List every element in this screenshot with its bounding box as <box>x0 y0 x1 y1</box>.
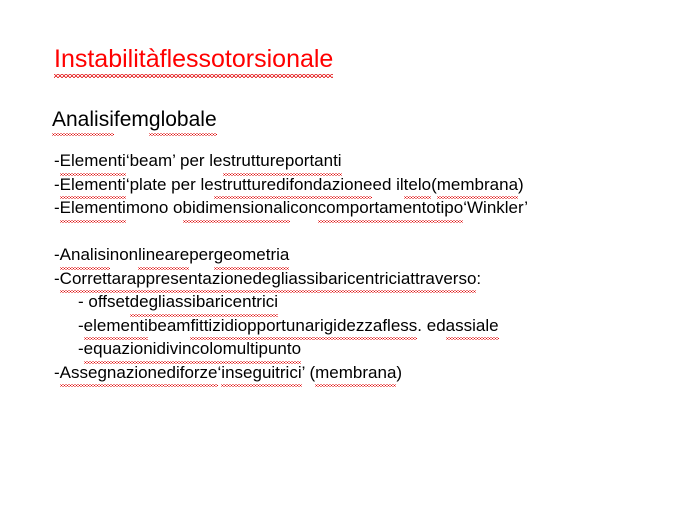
bullet-group-secondary: - Analisi non lineare per geometria- Cor… <box>54 243 499 384</box>
spellcheck-word: flessotorsionale <box>160 44 334 74</box>
presentation-slide: Instabilità flessotorsionale Analisi fem… <box>0 0 695 515</box>
spellcheck-word: Assegnazione <box>60 361 167 385</box>
spellcheck-word: telo <box>404 173 431 197</box>
spellcheck-word: di <box>156 337 169 361</box>
spellcheck-word: di <box>276 173 289 197</box>
text-run: fem <box>114 107 149 133</box>
spellcheck-word: equazioni <box>84 337 157 361</box>
spellcheck-word: di <box>224 314 237 338</box>
bullet-group-primary: - Elementi ‘beam’ per le strutture porta… <box>54 149 528 220</box>
spellcheck-word: geometria <box>214 243 290 267</box>
bullet-line: - Elementi ‘beam’ per le strutture porta… <box>54 149 528 173</box>
spellcheck-word: forze <box>180 361 218 385</box>
spellcheck-word: assi <box>166 290 196 314</box>
spellcheck-word: di <box>166 361 179 385</box>
spellcheck-word: membrana <box>315 361 396 385</box>
spellcheck-word: rappresentazione <box>121 267 252 291</box>
text-run: con <box>290 196 317 220</box>
spellcheck-word: attraverso <box>401 267 477 291</box>
spellcheck-word: portanti <box>285 149 342 173</box>
sub-bullet-line: - elementi beam fittizi di opportuna rig… <box>54 314 499 338</box>
spellcheck-word: baricentrici <box>196 290 278 314</box>
spellcheck-word: fittizi <box>190 314 224 338</box>
sub-bullet-line: - equazioni di vincolo multipunto <box>54 337 499 361</box>
text-run: per <box>189 243 214 267</box>
spellcheck-word: assi <box>288 267 318 291</box>
text-run: ‘beam’ per le <box>126 149 223 173</box>
text-run: mono o <box>126 196 183 220</box>
spellcheck-word: multipunto <box>223 337 301 361</box>
spellcheck-word: degli <box>130 290 166 314</box>
spellcheck-word: Analisi <box>60 243 110 267</box>
text-run: beam <box>148 314 191 338</box>
spellcheck-word: opportuna <box>238 314 315 338</box>
spellcheck-word: assiale <box>446 314 499 338</box>
spellcheck-word: tipo <box>436 196 463 220</box>
spellcheck-word: membrana <box>437 173 518 197</box>
bullet-line: - Analisi non lineare per geometria <box>54 243 499 267</box>
spellcheck-word: elementi <box>84 314 148 338</box>
bullet-line: - Assegnazione di forze ‘inseguitrici’ (… <box>54 361 499 385</box>
bullet-line: - Corretta rappresentazione degli assi b… <box>54 267 499 291</box>
spellcheck-word: baricentrici <box>319 267 401 291</box>
spellcheck-word: Instabilità <box>54 44 160 74</box>
spellcheck-word: fondazione <box>289 173 372 197</box>
spellcheck-word: lineare <box>138 243 189 267</box>
spellcheck-word: strutture <box>223 149 285 173</box>
spellcheck-word: globale <box>149 107 217 133</box>
spellcheck-word: fless <box>382 314 417 338</box>
text-run: ed il <box>372 173 403 197</box>
bullet-line: - Elementi mono o bidimensionali con com… <box>54 196 528 220</box>
text-run: ) <box>518 173 524 197</box>
spellcheck-word: degli <box>252 267 288 291</box>
sub-bullet-line: - offset degli assi baricentrici <box>54 290 499 314</box>
spellcheck-word: inseguitrici <box>221 361 301 385</box>
spellcheck-word: bidimensionali <box>183 196 291 220</box>
spellcheck-word: vincolo <box>170 337 223 361</box>
text-run: ‘Winkler’ <box>463 196 528 220</box>
spellcheck-word: Elementi <box>60 149 126 173</box>
text-run: . ed <box>417 314 445 338</box>
bullet-line: - Elementi ‘plate per le strutture di fo… <box>54 173 528 197</box>
spellcheck-word: Elementi <box>60 173 126 197</box>
text-run: : <box>476 267 481 291</box>
section-heading: Analisi fem globale <box>52 107 217 133</box>
slide-title: Instabilità flessotorsionale <box>54 44 333 74</box>
text-run: ‘plate per le <box>126 173 214 197</box>
text-run: - offset <box>78 290 130 314</box>
text-run: ) <box>396 361 402 385</box>
spellcheck-word: Corretta <box>60 267 121 291</box>
spellcheck-word: strutture <box>214 173 276 197</box>
text-run: ’ ( <box>302 361 316 385</box>
spellcheck-word: Elementi <box>60 196 126 220</box>
spellcheck-word: comportamento <box>318 196 436 220</box>
spellcheck-word: rigidezza <box>314 314 382 338</box>
spellcheck-word: Analisi <box>52 107 114 133</box>
text-run: non <box>110 243 138 267</box>
